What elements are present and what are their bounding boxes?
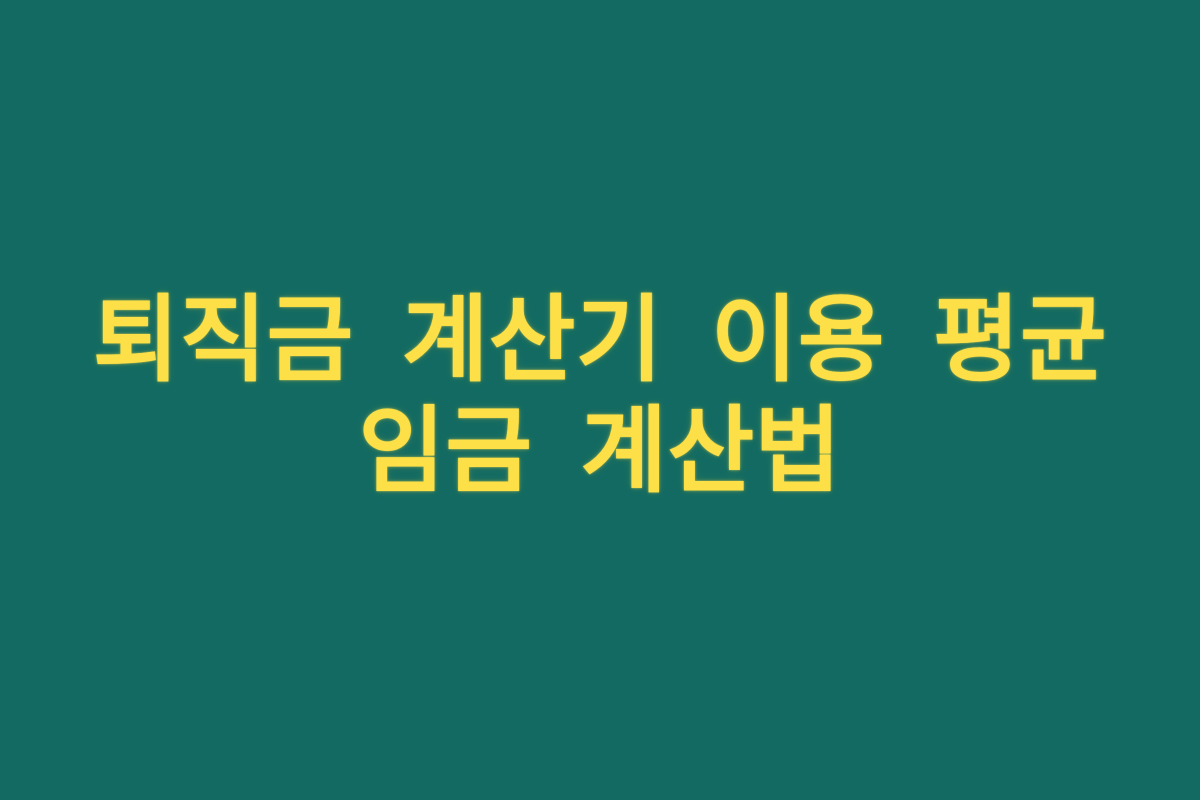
- title-block: 퇴직금 계산기 이용 평균 임금 계산법: [45, 286, 1155, 514]
- title-line-1: 퇴직금 계산기 이용 평균: [45, 286, 1155, 397]
- title-line-2: 임금 계산법: [45, 397, 1155, 508]
- thumbnail-card: 퇴직금 계산기 이용 평균 임금 계산법: [0, 0, 1200, 800]
